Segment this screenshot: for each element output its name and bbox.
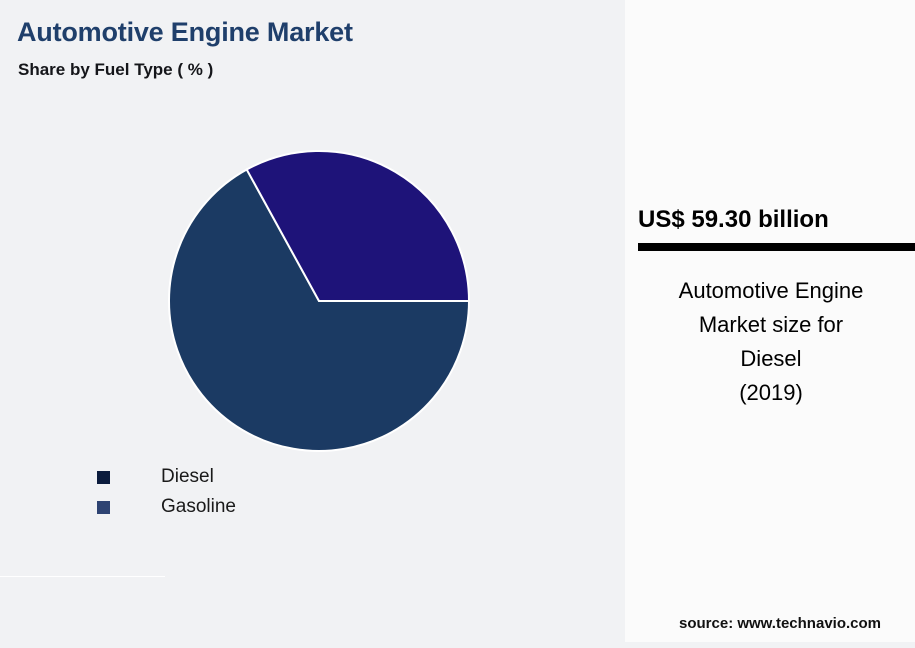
chart-main-panel: Automotive Engine Market Share by Fuel T…	[0, 0, 625, 648]
source-attribution: source: www.technavio.com	[679, 615, 881, 632]
legend-swatch-gasoline	[97, 501, 110, 514]
legend-label-gasoline: Gasoline	[161, 496, 236, 518]
callout-caption-line-3: Diesel	[635, 342, 907, 376]
bottom-divider-rule	[0, 576, 165, 577]
legend-item-gasoline[interactable]: Gasoline	[97, 492, 236, 522]
chart-subtitle: Share by Fuel Type ( % )	[18, 60, 213, 80]
callout-panel: US$ 59.30 billion Automotive Engine Mark…	[625, 0, 915, 642]
chart-legend: Diesel Gasoline	[97, 462, 236, 522]
callout-value: US$ 59.30 billion	[638, 206, 915, 234]
legend-swatch-diesel	[97, 471, 110, 484]
legend-item-diesel[interactable]: Diesel	[97, 462, 236, 492]
callout-caption-line-4: (2019)	[635, 376, 907, 410]
pie-chart	[168, 150, 470, 452]
legend-label-diesel: Diesel	[161, 466, 214, 488]
pie-chart-svg	[168, 150, 470, 452]
page-title: Automotive Engine Market	[17, 17, 353, 48]
callout-caption: Automotive Engine Market size for Diesel…	[635, 274, 907, 410]
callout-caption-line-2: Market size for	[635, 308, 907, 342]
callout-divider	[638, 243, 915, 251]
callout-caption-line-1: Automotive Engine	[635, 274, 907, 308]
